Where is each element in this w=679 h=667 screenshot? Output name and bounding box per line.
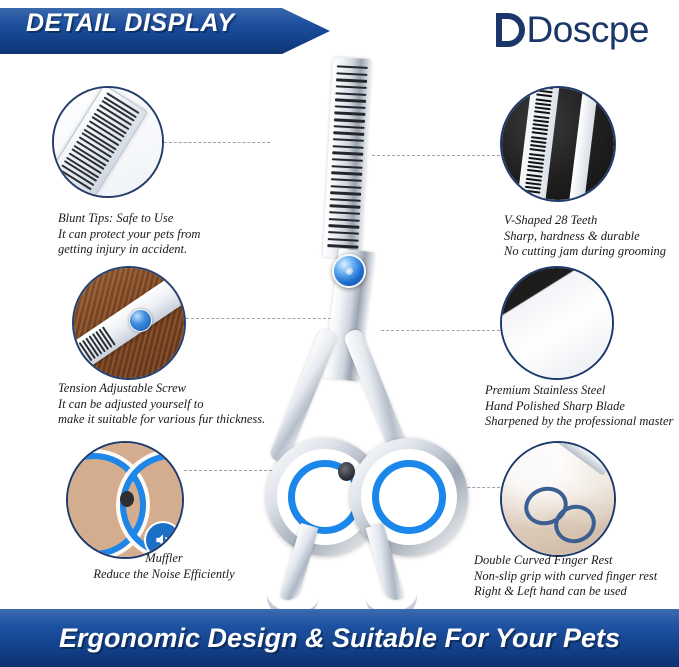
toothed-blade-shape bbox=[516, 86, 559, 202]
product-image-thinning-shears bbox=[232, 58, 452, 610]
footer-tagline: Ergonomic Design & Suitable For Your Pet… bbox=[59, 623, 620, 654]
caption-line: It can protect your pets from bbox=[58, 227, 200, 243]
brand-name: Doscpe bbox=[527, 13, 649, 47]
product-detail-infographic: DETAIL DISPLAY Doscpe Blunt Tips: Safe t… bbox=[0, 0, 679, 667]
footer-banner: Ergonomic Design & Suitable For Your Pet… bbox=[0, 609, 679, 667]
tension-screw-photo bbox=[74, 268, 184, 378]
feature-image-blunt-tips bbox=[52, 86, 164, 198]
feature-image-tension-screw bbox=[72, 266, 186, 380]
blue-tension-screw-shape bbox=[129, 309, 152, 332]
caption-line: Sharpened by the professional master bbox=[485, 414, 673, 430]
caption-line: Right & Left hand can be used bbox=[474, 584, 657, 600]
caption-line: Premium Stainless Steel bbox=[485, 383, 673, 399]
feature-image-muffler bbox=[66, 441, 184, 559]
blade-teeth-rows bbox=[327, 65, 367, 248]
tension-screw bbox=[332, 254, 366, 288]
feature-image-premium-steel bbox=[500, 266, 614, 380]
hand-holding-scissors-photo bbox=[502, 443, 614, 555]
caption-premium-steel: Premium Stainless Steel Hand Polished Sh… bbox=[485, 383, 673, 430]
caption-v-shaped-teeth: V-Shaped 28 Teeth Sharp, hardness & dura… bbox=[504, 213, 666, 260]
caption-blunt-tips: Blunt Tips: Safe to Use It can protect y… bbox=[58, 211, 200, 258]
caption-line: Hand Polished Sharp Blade bbox=[485, 399, 673, 415]
caption-finger-rest: Double Curved Finger Rest Non-slip grip … bbox=[474, 553, 657, 600]
teeth-rows bbox=[72, 326, 116, 370]
caption-line: Non-slip grip with curved finger rest bbox=[474, 569, 657, 585]
page-title: DETAIL DISPLAY bbox=[26, 9, 234, 38]
handle-pivot bbox=[338, 462, 355, 481]
caption-line: Blunt Tips: Safe to Use bbox=[58, 211, 200, 227]
toothed-blade bbox=[323, 57, 371, 259]
caption-line: getting injury in accident. bbox=[58, 242, 200, 258]
feature-image-finger-rest bbox=[500, 441, 616, 557]
v-teeth-photo bbox=[502, 88, 614, 200]
brand-d-mark-icon bbox=[496, 13, 526, 47]
teeth-rows bbox=[523, 86, 553, 202]
caption-line: Sharp, hardness & durable bbox=[504, 229, 666, 245]
caption-line: V-Shaped 28 Teeth bbox=[504, 213, 666, 229]
feature-image-v-shaped-teeth bbox=[500, 86, 616, 202]
muffler-rings-photo bbox=[68, 443, 182, 557]
pivot-shape bbox=[120, 491, 134, 507]
caption-line: Double Curved Finger Rest bbox=[474, 553, 657, 569]
blunt-tips-photo bbox=[54, 88, 162, 196]
straight-blade-shape bbox=[568, 86, 599, 202]
caption-line: No cutting jam during grooming bbox=[504, 244, 666, 260]
polished-blade-photo bbox=[502, 268, 612, 378]
brand-logo: Doscpe bbox=[496, 9, 649, 51]
